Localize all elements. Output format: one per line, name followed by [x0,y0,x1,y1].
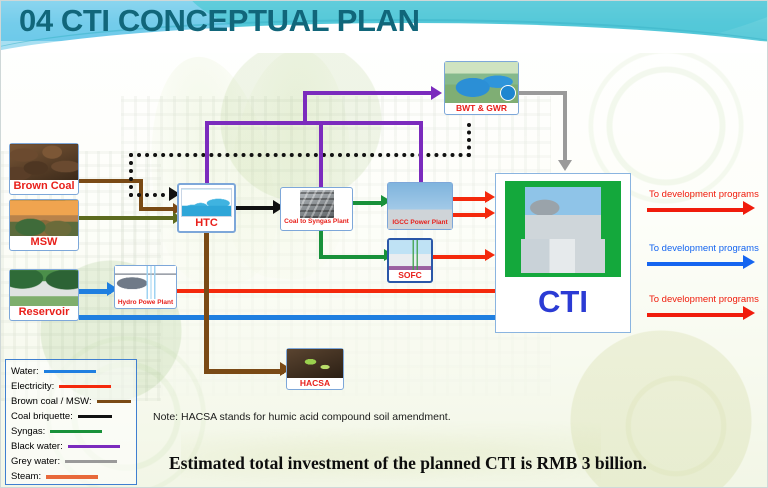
node-htc-label: HTC [193,217,220,231]
edge-igcc-cti-2-arrowhead [485,207,495,219]
node-cti-label: CTI [538,286,588,317]
htc-image [181,188,232,217]
edge-cti-output-2 [647,262,747,266]
node-coal-to-syngas-plant-label: Coal to Syngas Plant [282,218,351,227]
reservoir-image [10,270,78,306]
edge-briquette-v-left [129,153,133,197]
node-msw[interactable]: MSW [9,199,79,251]
legend-item: Black water: [11,439,131,454]
cti-equipment-photo [521,239,605,273]
investment-statement: Estimated total investment of the planne… [169,453,647,474]
edge-cti-output-1-arrowhead [743,201,755,215]
coal-to-syngas-plant-image [300,190,334,218]
legend-item: Water: [11,364,131,379]
edge-browncoal-htc-h2 [139,207,175,211]
edge-htc-hacsa-h [204,369,284,374]
legend-item: Coal briquette: [11,409,131,424]
msw-image [10,200,78,236]
edge-sofc-cti [433,255,489,259]
legend-item: Electricity: [11,379,131,394]
cti-plant-photo [525,187,601,239]
legend-label-syngas: Syngas: [11,426,45,437]
legend-swatch-grey-water [65,460,117,463]
sofc-image [389,240,431,270]
legend-item: Steam: [11,469,131,484]
edge-htc-hacsa-v [204,233,209,373]
edge-igcc-cti-2 [453,213,489,217]
edge-browncoal-htc-h1 [79,179,143,183]
output-label-3: To development programs [649,294,759,305]
edge-greywater-arrowhead [558,160,572,171]
node-msw-label: MSW [29,236,60,250]
legend-label-electricity: Electricity: [11,381,54,392]
legend-swatch-electricity [59,385,111,388]
legend-item: Syngas: [11,424,131,439]
edge-greywater-v [563,91,567,163]
edge-blackwater-htc-v [205,121,209,187]
edge-cti-output-3 [647,313,747,317]
node-bwt-gwr-label: BWT & GWR [454,103,509,114]
node-sofc-label: SOFC [396,270,424,281]
recycle-badge-icon [500,85,516,101]
edge-igcc-cti-1 [453,197,489,201]
node-igcc-power-plant[interactable]: IGCC Power Plant [387,182,453,230]
output-label-1: To development programs [649,189,759,200]
legend-label-brown-coal-msw: Brown coal / MSW: [11,396,92,407]
edge-blackwater-lower-h [205,121,423,125]
edge-reservoir-cti-water [79,315,497,320]
cti-image-panel [505,181,621,277]
hacsa-note: Note: HACSA stands for humic acid compou… [153,411,451,423]
edge-hydro-cti-electricity [177,289,497,293]
node-coal-to-syngas-plant[interactable]: Coal to Syngas Plant [280,187,353,231]
node-brown-coal[interactable]: Brown Coal [9,143,79,195]
node-reservoir-label: Reservoir [17,306,72,320]
slide-canvas: 04 CTI CONCEPTUAL PLAN [0,0,768,488]
node-brown-coal-label: Brown Coal [11,180,76,194]
edge-briquette-v-right [467,123,475,157]
edge-blackwater-top-h [303,91,435,95]
edge-igcc-cti-1-arrowhead [485,191,495,203]
legend-swatch-coal-briquette [78,415,112,418]
legend-label-black-water: Black water: [11,441,63,452]
edge-blackwater-bwt-arrowhead [431,86,442,100]
page-title: 04 CTI CONCEPTUAL PLAN [19,3,420,39]
brown-coal-image [10,144,78,180]
edge-htc-syngas [236,206,276,210]
edge-cti-output-1 [647,208,747,212]
node-bwt-gwr[interactable]: BWT & GWR [444,61,519,115]
edge-cti-output-2-arrowhead [743,255,755,269]
hacsa-image [287,349,343,378]
legend-item: Grey water: [11,454,131,469]
output-label-2: To development programs [649,243,759,254]
hydro-power-plant-image [115,266,176,299]
legend-swatch-black-water [68,445,120,448]
legend-panel: Water: Electricity: Brown coal / MSW: Co… [5,359,137,485]
node-hydro-power-plant[interactable]: Hydro Powe Plant [114,265,177,309]
edge-briquette-h2 [129,193,173,197]
node-htc[interactable]: HTC [177,183,236,233]
legend-item: Brown coal / MSW: [11,394,131,409]
edge-sofc-cti-arrowhead [485,249,495,261]
edge-blackwater-up-v [303,91,307,125]
legend-label-steam: Steam: [11,471,41,482]
edge-blackwater-igcc-v [419,121,423,187]
legend-swatch-water [44,370,96,373]
node-cti[interactable]: CTI [495,173,631,333]
legend-swatch-steam [46,475,98,479]
legend-swatch-syngas [50,430,102,433]
node-hydro-power-plant-label: Hydro Powe Plant [116,299,175,308]
edge-msw-htc [79,216,175,220]
node-reservoir[interactable]: Reservoir [9,269,79,321]
edge-blackwater-syngas-v [319,121,323,187]
edge-greywater-h [519,91,567,95]
legend-label-grey-water: Grey water: [11,456,60,467]
node-sofc[interactable]: SOFC [387,238,433,283]
edge-syngas-sofc-h [319,255,387,259]
node-igcc-power-plant-label: IGCC Power Plant [388,219,452,228]
legend-swatch-brown-coal-msw [97,400,131,403]
legend-label-coal-briquette: Coal briquette: [11,411,73,422]
node-hacsa-label: HACSA [298,378,332,389]
node-hacsa[interactable]: HACSA [286,348,344,390]
legend-label-water: Water: [11,366,39,377]
edge-cti-output-3-arrowhead [743,306,755,320]
